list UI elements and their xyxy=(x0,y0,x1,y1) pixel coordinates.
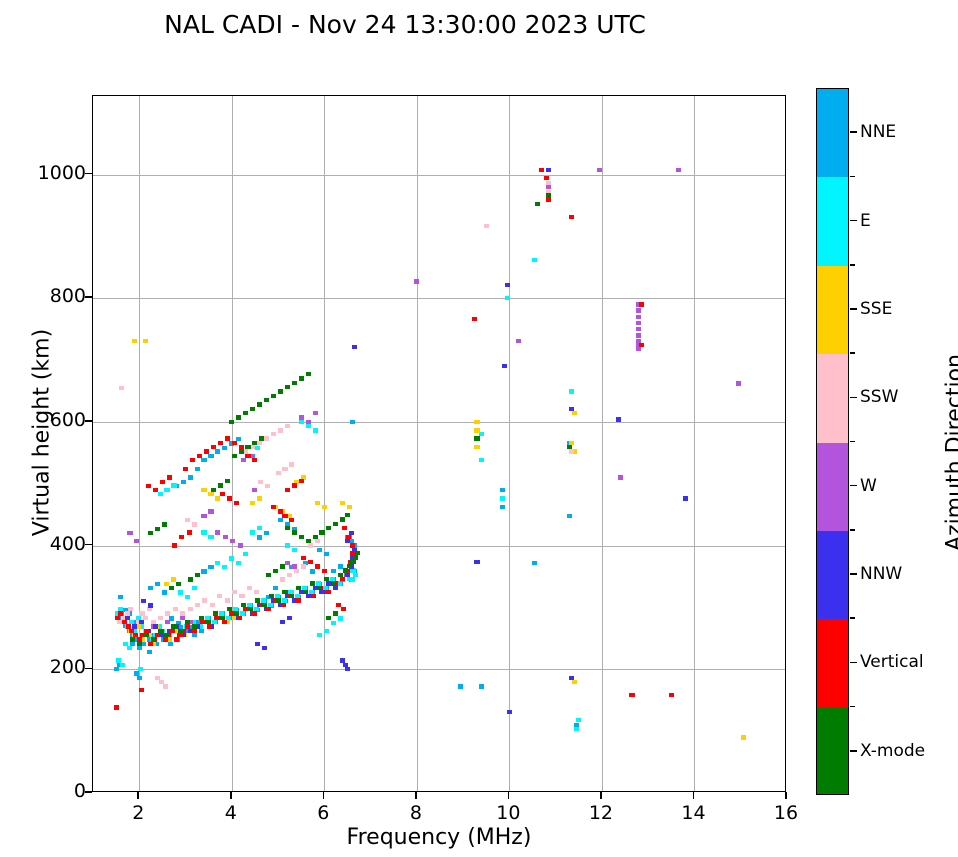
data-point xyxy=(636,308,641,312)
data-point xyxy=(340,517,345,521)
data-point xyxy=(683,496,688,500)
data-point xyxy=(173,607,178,611)
data-point xyxy=(127,646,132,650)
data-point xyxy=(333,522,338,526)
data-point xyxy=(146,484,151,488)
data-point xyxy=(474,420,479,424)
x-tick-mark xyxy=(323,792,325,799)
data-point xyxy=(118,595,123,599)
data-point xyxy=(137,676,142,680)
data-point xyxy=(636,315,641,319)
data-point xyxy=(676,168,681,172)
colorbar-band-nnw[interactable] xyxy=(817,531,848,619)
colorbar-label-w: W xyxy=(860,476,877,496)
data-point xyxy=(569,449,574,453)
x-tick-mark xyxy=(415,792,417,799)
data-point xyxy=(208,535,213,539)
data-point xyxy=(474,560,479,564)
data-point xyxy=(736,381,741,385)
data-point xyxy=(353,573,358,577)
data-point xyxy=(324,629,329,633)
y-tick-mark xyxy=(85,791,92,793)
data-point xyxy=(232,590,237,594)
data-point xyxy=(276,471,281,475)
data-point xyxy=(264,436,269,440)
data-point xyxy=(669,693,674,697)
data-point xyxy=(333,611,338,615)
colorbar-boundary-tick xyxy=(850,617,855,619)
data-point xyxy=(308,543,313,547)
data-point xyxy=(119,386,124,390)
data-point xyxy=(257,402,262,406)
colorbar-band-w[interactable] xyxy=(817,443,848,531)
data-point xyxy=(208,509,213,513)
data-point xyxy=(341,607,346,611)
data-point xyxy=(183,467,188,471)
data-point xyxy=(338,616,343,620)
colorbar-label-sse: SSE xyxy=(860,299,892,319)
data-point xyxy=(248,607,253,611)
data-point xyxy=(220,492,225,496)
data-point xyxy=(251,611,256,615)
data-point xyxy=(347,564,352,568)
data-point xyxy=(243,411,248,415)
data-point xyxy=(178,629,183,633)
data-point xyxy=(211,445,216,449)
data-point xyxy=(147,650,152,654)
data-point xyxy=(352,345,357,349)
data-point xyxy=(227,607,232,611)
data-point xyxy=(353,555,358,559)
data-point xyxy=(230,539,235,543)
data-point xyxy=(201,514,206,518)
data-point xyxy=(500,496,505,500)
data-point xyxy=(636,327,641,331)
y-tick-label: 200 xyxy=(50,656,86,678)
data-point xyxy=(158,616,163,620)
data-point xyxy=(505,296,510,300)
data-point xyxy=(192,629,197,633)
gridline-vertical xyxy=(694,96,695,791)
data-point xyxy=(479,432,484,436)
data-point xyxy=(195,467,200,471)
x-tick-mark xyxy=(137,792,139,799)
data-point xyxy=(185,595,190,599)
x-tick-label: 10 xyxy=(496,802,520,824)
data-point xyxy=(130,637,135,641)
colorbar-band-e[interactable] xyxy=(817,177,848,265)
data-point xyxy=(187,530,192,534)
data-point xyxy=(636,321,641,325)
data-point xyxy=(195,603,200,607)
data-point xyxy=(127,531,132,535)
x-axis-label: Frequency (MHz) xyxy=(92,825,786,850)
data-point xyxy=(315,564,320,568)
data-point xyxy=(164,582,169,586)
data-point xyxy=(484,224,489,228)
data-point xyxy=(544,176,549,180)
data-point xyxy=(255,598,260,602)
data-point xyxy=(273,586,278,590)
data-point xyxy=(317,548,322,552)
data-point xyxy=(137,642,142,646)
gridline-horizontal xyxy=(93,422,785,423)
gridline-horizontal xyxy=(93,669,785,670)
x-tick-label: 6 xyxy=(317,802,329,824)
data-point xyxy=(178,590,183,594)
colorbar-label-nnw: NNW xyxy=(860,564,902,584)
data-point xyxy=(285,424,290,428)
data-point xyxy=(306,420,311,424)
data-point xyxy=(168,642,173,646)
colorbar-tick xyxy=(850,750,857,752)
data-point xyxy=(217,594,222,598)
data-point xyxy=(347,505,352,509)
data-point xyxy=(164,488,169,492)
data-point xyxy=(214,616,219,620)
data-point xyxy=(472,317,477,321)
x-tick-mark xyxy=(693,792,695,799)
data-point xyxy=(218,441,223,445)
data-point xyxy=(280,577,285,581)
data-point xyxy=(155,633,160,637)
y-tick-mark xyxy=(85,544,92,546)
data-point xyxy=(185,620,190,624)
data-point xyxy=(325,590,330,594)
colorbar-band-x-mode[interactable] xyxy=(817,708,848,795)
data-point xyxy=(192,522,197,526)
data-point xyxy=(128,607,133,611)
data-point xyxy=(165,620,170,624)
data-point xyxy=(262,646,267,650)
data-point xyxy=(292,483,297,487)
data-point xyxy=(114,667,119,671)
plot-area[interactable] xyxy=(92,95,786,792)
data-point xyxy=(252,458,257,462)
data-point xyxy=(188,577,193,581)
data-point xyxy=(539,168,544,172)
colorbar-band-ssw[interactable] xyxy=(817,354,848,442)
data-point xyxy=(176,582,181,586)
data-point xyxy=(331,581,336,585)
data-point xyxy=(151,637,156,641)
data-point xyxy=(192,633,197,637)
data-point xyxy=(199,616,204,620)
data-point xyxy=(118,611,123,615)
colorbar-band-vertical[interactable] xyxy=(817,619,848,707)
gridline-vertical xyxy=(324,96,325,791)
data-point xyxy=(280,620,285,624)
data-point xyxy=(299,376,304,380)
data-point xyxy=(208,492,213,496)
data-point xyxy=(245,445,250,449)
data-point xyxy=(172,543,177,547)
data-point xyxy=(310,569,315,573)
data-point xyxy=(197,454,202,458)
data-point xyxy=(546,168,551,172)
colorbar-boundary-tick xyxy=(850,441,855,443)
data-point xyxy=(188,607,193,611)
data-point xyxy=(576,718,581,722)
colorbar-boundary-tick xyxy=(850,352,855,354)
data-point xyxy=(208,454,213,458)
data-point xyxy=(287,616,292,620)
data-point xyxy=(208,565,213,569)
data-point xyxy=(299,535,304,539)
data-point xyxy=(346,535,351,539)
data-point xyxy=(289,462,294,466)
data-point xyxy=(296,598,301,602)
data-point xyxy=(345,573,350,577)
data-point xyxy=(201,569,206,573)
data-point xyxy=(572,680,577,684)
colorbar-tick xyxy=(850,308,857,310)
data-point xyxy=(234,501,239,505)
data-point xyxy=(236,415,241,419)
data-point xyxy=(273,569,278,573)
gridline-horizontal xyxy=(93,546,785,547)
y-tick-label: 600 xyxy=(50,409,86,431)
data-point xyxy=(259,436,264,440)
data-point xyxy=(546,193,551,197)
gridline-horizontal xyxy=(93,298,785,299)
gridline-horizontal xyxy=(93,175,785,176)
data-point xyxy=(326,526,331,530)
data-point xyxy=(350,543,355,547)
data-point xyxy=(271,432,276,436)
colorbar-band-sse[interactable] xyxy=(817,266,848,354)
data-point xyxy=(262,603,267,607)
data-point xyxy=(165,611,170,615)
data-point xyxy=(162,522,167,526)
data-point xyxy=(516,339,521,343)
data-point xyxy=(350,568,355,572)
data-point xyxy=(158,492,163,496)
data-point xyxy=(301,564,306,568)
data-point xyxy=(281,603,286,607)
data-point xyxy=(292,381,297,385)
data-point xyxy=(120,663,125,667)
y-tick-mark xyxy=(85,173,92,175)
data-point xyxy=(285,385,290,389)
x-tick-mark xyxy=(785,792,787,799)
data-point xyxy=(236,561,241,565)
colorbar-boundary-tick xyxy=(850,529,855,531)
data-point xyxy=(225,436,230,440)
data-point xyxy=(629,693,634,697)
data-point xyxy=(169,586,174,590)
data-point xyxy=(252,441,257,445)
data-point xyxy=(345,513,350,517)
data-point xyxy=(299,415,304,419)
data-point xyxy=(132,339,137,343)
figure-canvas: NAL CADI - Nov 24 13:30:00 2023 UTC 0200… xyxy=(0,0,958,857)
data-point xyxy=(257,526,262,530)
data-point xyxy=(210,603,215,607)
data-point xyxy=(218,483,223,487)
data-point xyxy=(188,475,193,479)
data-point xyxy=(115,616,120,620)
data-point xyxy=(271,394,276,398)
colorbar-label-vertical: Vertical xyxy=(860,652,924,672)
data-point xyxy=(500,505,505,509)
data-point xyxy=(569,676,574,680)
data-point xyxy=(204,449,209,453)
x-tick-label: 16 xyxy=(774,802,798,824)
colorbar[interactable] xyxy=(816,88,849,795)
data-point xyxy=(147,607,152,611)
x-tick-mark xyxy=(600,792,602,799)
data-point xyxy=(639,302,644,306)
y-axis-label: Virtual height (km) xyxy=(30,183,55,683)
data-point xyxy=(202,598,207,602)
data-point xyxy=(236,437,241,441)
data-point xyxy=(311,594,316,598)
data-point xyxy=(350,560,355,564)
colorbar-boundary-tick xyxy=(850,176,855,178)
data-point xyxy=(160,480,165,484)
data-point xyxy=(222,446,227,450)
data-point xyxy=(215,561,220,565)
data-point xyxy=(618,475,623,479)
data-point xyxy=(502,364,507,368)
data-point xyxy=(148,586,153,590)
data-point xyxy=(239,594,244,598)
y-tick-label: 1000 xyxy=(38,162,86,184)
data-point xyxy=(232,441,237,445)
data-point xyxy=(474,428,479,432)
data-point xyxy=(303,590,308,594)
data-point xyxy=(301,556,306,560)
data-point xyxy=(153,488,158,492)
data-point xyxy=(148,603,153,607)
data-point xyxy=(185,624,190,628)
colorbar-axis-label: Azimuth Direction xyxy=(943,243,958,663)
data-point xyxy=(199,629,204,633)
data-point xyxy=(148,531,153,535)
data-point xyxy=(282,590,287,594)
colorbar-tick xyxy=(850,131,857,133)
y-tick-label: 0 xyxy=(74,780,86,802)
data-point xyxy=(222,565,227,569)
data-point xyxy=(546,198,551,202)
data-point xyxy=(546,185,551,189)
y-tick-mark xyxy=(85,668,92,670)
data-point xyxy=(285,543,290,547)
data-point xyxy=(294,569,299,573)
data-point xyxy=(336,603,341,607)
data-point xyxy=(313,535,318,539)
data-point xyxy=(250,407,255,411)
data-point xyxy=(285,561,290,565)
data-point xyxy=(282,514,287,518)
data-point xyxy=(155,527,160,531)
data-point xyxy=(195,573,200,577)
data-point xyxy=(287,573,292,577)
data-point xyxy=(532,258,537,262)
data-point xyxy=(158,629,163,633)
data-point xyxy=(340,577,345,581)
data-point xyxy=(185,518,190,522)
colorbar-boundary-tick xyxy=(850,264,855,266)
data-point xyxy=(245,454,250,458)
data-point xyxy=(326,616,331,620)
data-point xyxy=(232,454,237,458)
data-point xyxy=(299,420,304,424)
data-point xyxy=(243,552,248,556)
data-point xyxy=(315,501,320,505)
data-point xyxy=(201,488,206,492)
data-point xyxy=(532,561,537,565)
colorbar-label-ssw: SSW xyxy=(860,387,898,407)
data-point xyxy=(213,611,218,615)
data-point xyxy=(250,445,255,449)
data-point xyxy=(237,616,242,620)
colorbar-tick xyxy=(850,485,857,487)
data-point xyxy=(137,646,142,650)
data-point xyxy=(296,586,301,590)
data-point xyxy=(254,590,259,594)
data-point xyxy=(340,501,345,505)
gridline-vertical xyxy=(139,96,140,791)
colorbar-tick xyxy=(850,662,857,664)
data-point xyxy=(569,407,574,411)
y-tick-label: 800 xyxy=(50,285,86,307)
x-tick-label: 4 xyxy=(225,802,237,824)
data-point xyxy=(636,347,641,351)
data-point xyxy=(350,420,355,424)
data-point xyxy=(201,458,206,462)
data-point xyxy=(292,530,297,534)
data-point xyxy=(220,616,225,620)
data-point xyxy=(223,535,228,539)
x-tick-mark xyxy=(508,792,510,799)
data-point xyxy=(317,586,322,590)
data-point xyxy=(143,339,148,343)
data-point xyxy=(170,629,175,633)
data-point xyxy=(250,501,255,505)
data-point xyxy=(616,417,621,421)
data-point xyxy=(306,424,311,428)
data-point xyxy=(215,496,220,500)
x-tick-label: 14 xyxy=(681,802,705,824)
data-point xyxy=(741,735,746,739)
data-point xyxy=(144,633,149,637)
data-point xyxy=(500,488,505,492)
data-point xyxy=(292,564,297,568)
data-point xyxy=(229,420,234,424)
data-point xyxy=(317,633,322,637)
data-point xyxy=(567,514,572,518)
data-point xyxy=(331,621,336,625)
data-point xyxy=(190,458,195,462)
data-point xyxy=(171,483,176,487)
gridline-vertical xyxy=(509,96,510,791)
data-point xyxy=(139,620,144,624)
data-point xyxy=(174,637,179,641)
colorbar-label-e: E xyxy=(860,211,871,231)
colorbar-band-nne[interactable] xyxy=(817,89,848,177)
data-point xyxy=(345,667,350,671)
data-point xyxy=(324,552,329,556)
data-point xyxy=(308,560,313,564)
y-tick-mark xyxy=(85,420,92,422)
data-point xyxy=(255,446,260,450)
data-point xyxy=(222,620,227,624)
data-point xyxy=(269,594,274,598)
x-tick-label: 2 xyxy=(132,802,144,824)
data-point xyxy=(313,428,318,432)
